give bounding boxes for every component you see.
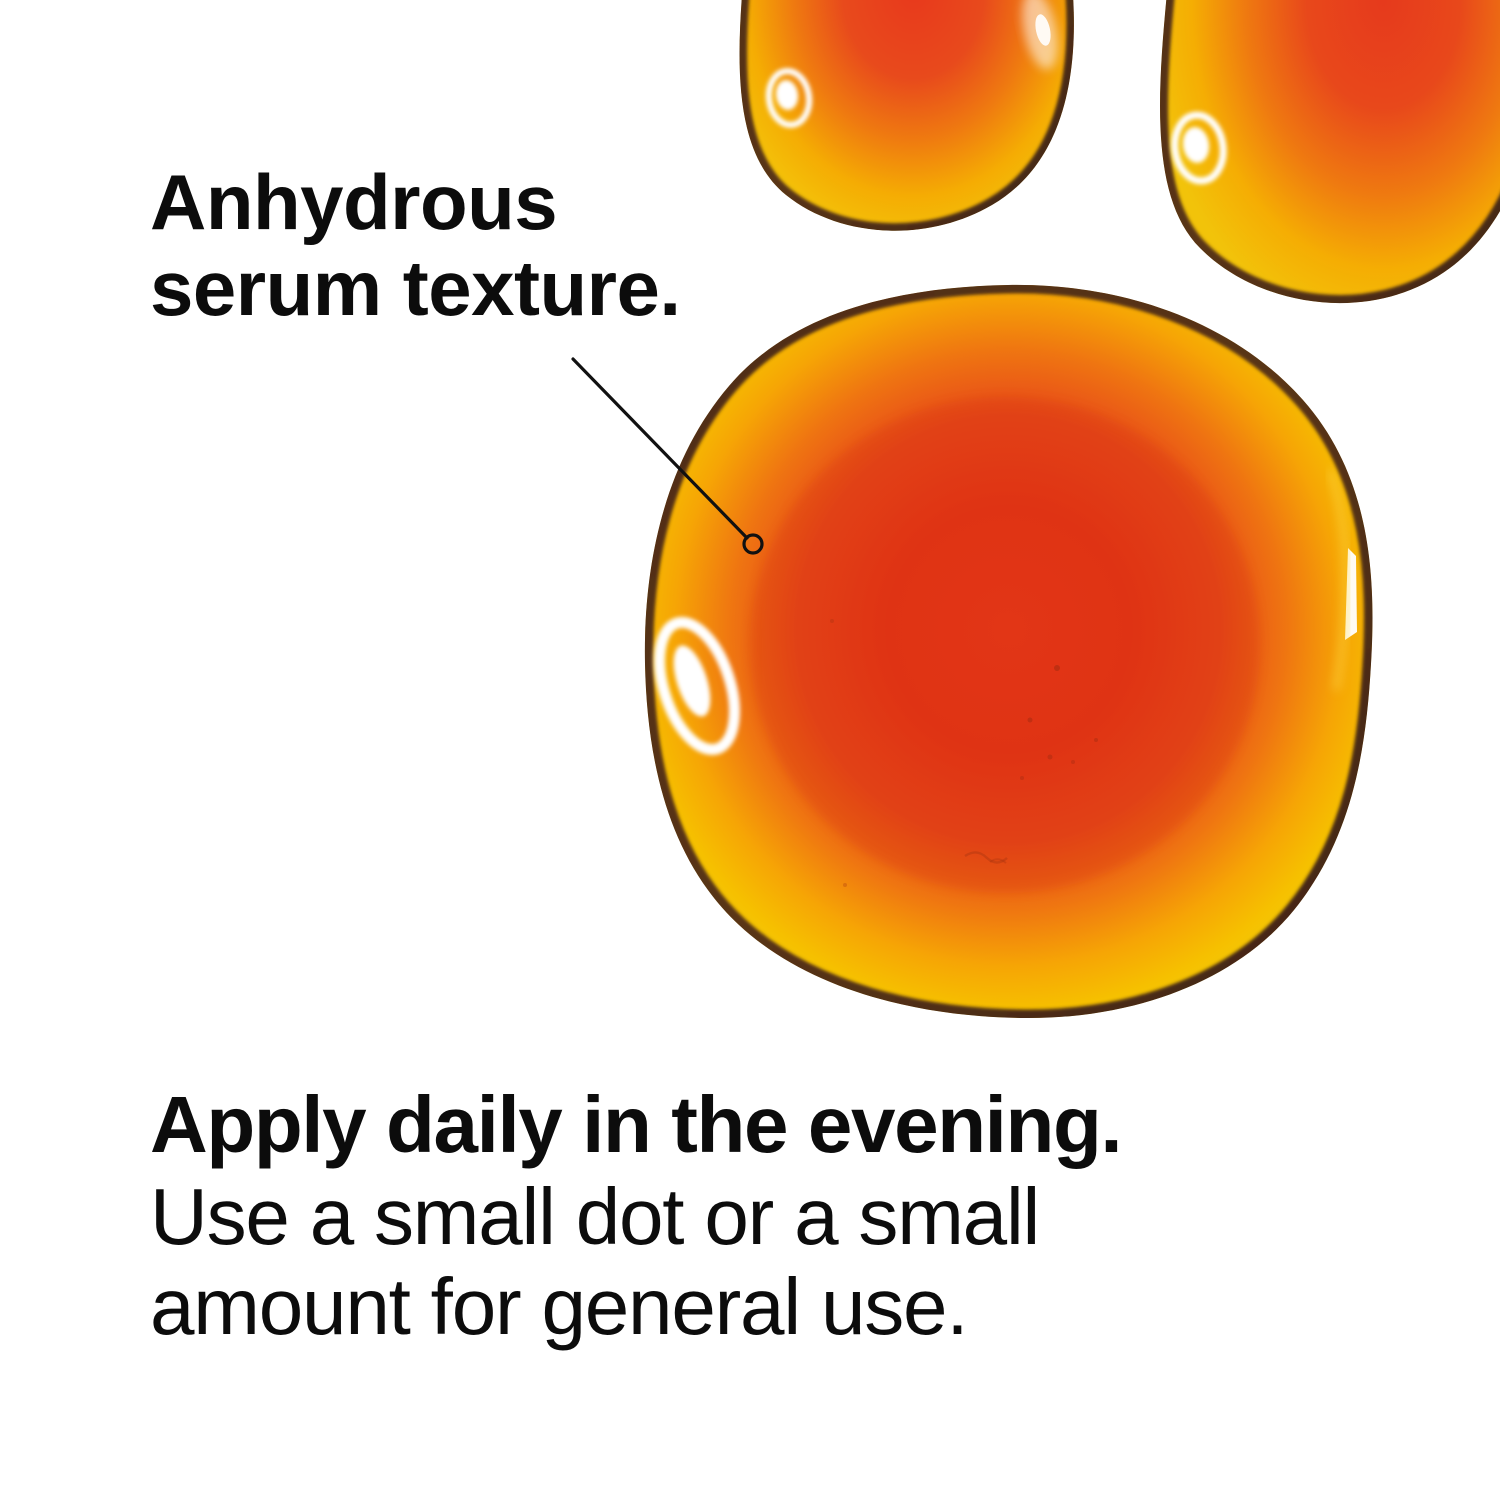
usage-heading: Apply daily in the evening. <box>150 1082 1350 1168</box>
usage-body: Use a small dot or a small amount for ge… <box>150 1172 1300 1351</box>
droplet-main <box>645 285 1373 1018</box>
callout-label: Anhydrous serum texture. <box>150 160 810 332</box>
poster-canvas: Anhydrous serum texture. Apply daily in … <box>0 0 1500 1500</box>
droplet-top-right <box>1160 0 1500 303</box>
